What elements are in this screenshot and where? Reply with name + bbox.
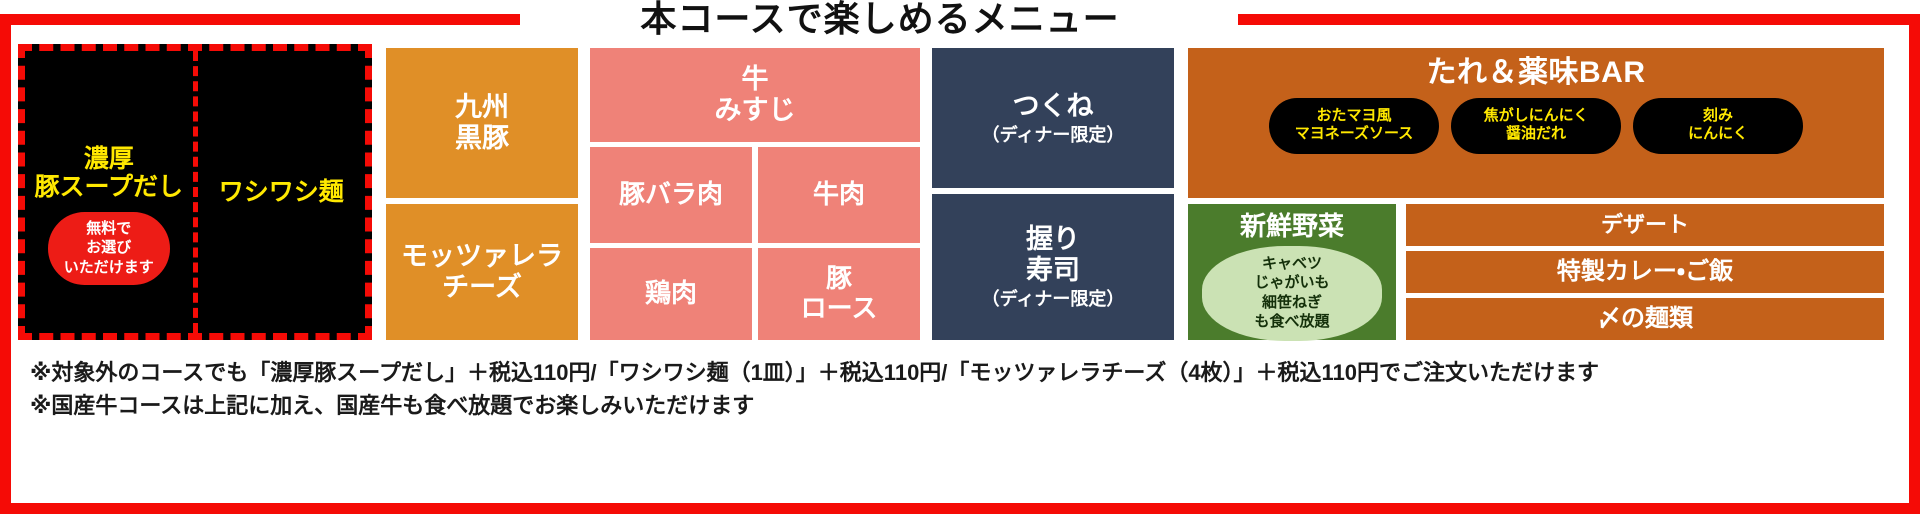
tare-pill-garlic-soy-line2: 醤油だれ <box>1506 125 1566 142</box>
tile-gyu-misuji[interactable]: 牛 みすじ <box>590 48 920 142</box>
tile-tare-yakumi-bar[interactable]: たれ＆薬味BAR おたマヨ風 マヨネーズソース 焦がしにんにく 醤油だれ 刻み … <box>1188 48 1884 198</box>
tare-pill-garlic-soy[interactable]: 焦がしにんにく 醤油だれ <box>1451 98 1621 154</box>
kyushu-line1: 九州 <box>455 92 509 123</box>
tile-toriniku[interactable]: 鶏肉 <box>590 248 752 340</box>
soup-label-line1: 濃厚 <box>84 145 134 173</box>
tare-pill-mayo-line2: マヨネーズソース <box>1295 125 1414 142</box>
free-choice-item-soup[interactable]: 濃厚 豚スープだし 無料で お選び いただけます <box>25 51 198 333</box>
tile-kyushu-kurobuta[interactable]: 九州 黒豚 <box>386 48 578 198</box>
tare-pill-list: おたマヨ風 マヨネーズソース 焦がしにんにく 醤油だれ 刻み にんにく <box>1269 98 1803 154</box>
sushi-line2: 寿司 <box>1026 255 1080 286</box>
gyu-misuji-line1: 牛 <box>742 64 769 95</box>
free-badge-line2: お選び <box>86 239 131 256</box>
tile-curry-rice[interactable]: 特製カレー・ご飯 <box>1406 251 1884 293</box>
buta-loin-line1: 豚 <box>826 264 852 294</box>
free-choice-soup-label: 濃厚 豚スープだし <box>34 145 183 201</box>
footnote-line-1: ※対象外のコースでも「濃厚豚スープだし」＋税込110円/「ワシワシ麺（1皿）」＋… <box>30 356 1890 389</box>
tare-pill-mayo-line1: おたマヨ風 <box>1316 107 1391 124</box>
tare-pill-mayo[interactable]: おたマヨ風 マヨネーズソース <box>1269 98 1439 154</box>
tsukune-note: （ディナー限定） <box>982 125 1125 146</box>
free-badge: 無料で お選び いただけます <box>48 212 170 285</box>
tile-tsukune[interactable]: つくね （ディナー限定） <box>932 48 1174 188</box>
tile-dessert[interactable]: デザート <box>1406 204 1884 246</box>
vegetables-title: 新鮮野菜 <box>1240 212 1344 242</box>
tare-pill-garlic-soy-line1: 焦がしにんにく <box>1484 107 1589 124</box>
tsukune-label: つくね <box>1013 91 1094 122</box>
tare-pill-chopped-garlic-line2: にんにく <box>1688 125 1748 142</box>
tile-buta-loin[interactable]: 豚 ロース <box>758 248 920 340</box>
vegetables-line4: も食べ放題 <box>1254 313 1329 330</box>
free-badge-line3: いただけます <box>64 259 154 276</box>
mozzarella-line2: チーズ <box>442 272 522 303</box>
footnote-line-2: ※国産牛コースは上記に加え、国産牛も食べ放題でお楽しみいただけます <box>30 389 1890 422</box>
gyu-misuji-line2: みすじ <box>715 95 796 126</box>
vegetables-line3: 細笹ねぎ <box>1262 294 1322 311</box>
tile-gyuniku[interactable]: 牛肉 <box>758 147 920 243</box>
menu-board: 濃厚 豚スープだし 無料で お選び いただけます ワシワシ麺 九州 黒豚 モッツ… <box>18 44 1902 344</box>
tile-shime-noodles[interactable]: 〆の麺類 <box>1406 298 1884 340</box>
kyushu-line2: 黒豚 <box>455 123 509 154</box>
mozzarella-line1: モッツァレラ <box>401 241 563 272</box>
free-badge-line1: 無料で <box>86 220 131 237</box>
sushi-note: （ディナー限定） <box>982 289 1125 310</box>
sushi-line1: 握り <box>1026 224 1080 255</box>
page-title: 本コースで楽しめるメニュー <box>540 0 1220 38</box>
free-choice-item-noodle[interactable]: ワシワシ麺 <box>198 51 366 333</box>
free-choice-group: 濃厚 豚スープだし 無料で お選び いただけます ワシワシ麺 <box>18 44 372 340</box>
tare-pill-chopped-garlic-line1: 刻み <box>1703 107 1733 124</box>
noodle-label: ワシワシ麺 <box>219 178 344 206</box>
vegetables-line1: キャベツ <box>1262 255 1322 272</box>
vegetables-blob: キャベツ じゃがいも 細笹ねぎ も食べ放題 <box>1202 246 1382 341</box>
tare-pill-chopped-garlic[interactable]: 刻み にんにく <box>1633 98 1803 154</box>
tile-nigiri-sushi[interactable]: 握り 寿司 （ディナー限定） <box>932 194 1174 340</box>
tile-buta-bara-niku[interactable]: 豚バラ肉 <box>590 147 752 243</box>
tile-mozzarella-cheese[interactable]: モッツァレラ チーズ <box>386 204 578 340</box>
tare-bar-title: たれ＆薬味BAR <box>1427 56 1646 90</box>
soup-label-line2: 豚スープだし <box>34 173 183 201</box>
footnotes: ※対象外のコースでも「濃厚豚スープだし」＋税込110円/「ワシワシ麺（1皿）」＋… <box>30 356 1890 423</box>
tile-fresh-vegetables[interactable]: 新鮮野菜 キャベツ じゃがいも 細笹ねぎ も食べ放題 <box>1188 204 1396 340</box>
vegetables-line2: じゃがいも <box>1254 274 1329 291</box>
buta-loin-line2: ロース <box>801 294 878 324</box>
